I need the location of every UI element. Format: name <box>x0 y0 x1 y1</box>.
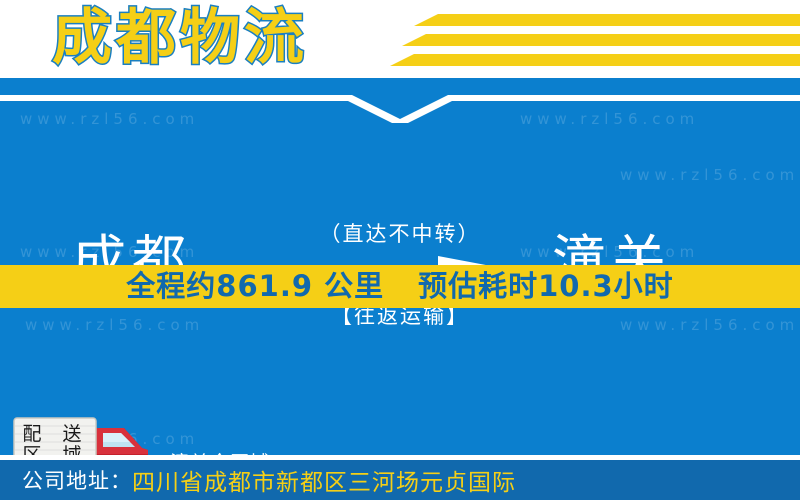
watermark: www.rzl56.com <box>520 110 699 128</box>
watermark: www.rzl56.com <box>620 316 799 334</box>
address-label: 公司地址： <box>22 465 132 495</box>
logistics-banner: 成都物流 www.rzl56.com www.rzl56.com www.rzl… <box>0 0 800 500</box>
estimated-duration-text: 预估耗时10.3小时 <box>418 265 674 308</box>
page-title: 成都物流 <box>52 4 308 72</box>
watermark: www.rzl56.com <box>25 316 204 334</box>
watermark: www.rzl56.com <box>620 166 799 184</box>
decorative-stripes <box>380 14 800 76</box>
truck-badge-char-1: 配 <box>22 423 41 445</box>
route-note-top: （直达不中转） <box>250 218 550 248</box>
address-bar: 公司地址： 四川省成都市新都区三河场元贞国际 <box>0 460 800 500</box>
truck-badge-char-2: 送 <box>62 423 81 445</box>
delivery-truck-icon: 配 送 区 域 <box>8 410 160 457</box>
banner-header: 成都物流 <box>0 0 800 78</box>
distance-band: 全程约861.9 公里 预估耗时10.3小时 <box>0 265 800 308</box>
watermark: www.rzl56.com <box>20 110 199 128</box>
address-value: 四川省成都市新都区三河场元贞国际 <box>132 463 516 497</box>
total-distance-text: 全程约861.9 公里 <box>126 265 384 308</box>
